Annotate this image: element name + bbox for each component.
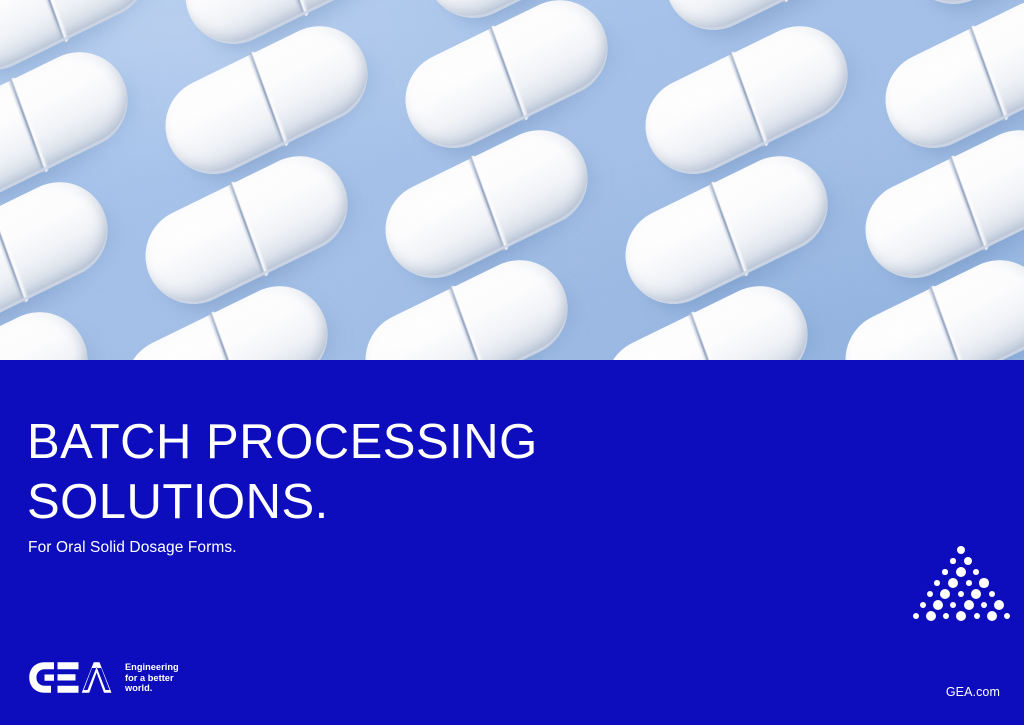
triangle-dot [920, 602, 926, 608]
blue-content-panel: BATCH PROCESSING SOLUTIONS. For Oral Sol… [0, 360, 1024, 725]
hero-photo-grain [0, 0, 1024, 360]
triangle-dot [940, 589, 950, 599]
hero-photo [0, 0, 1024, 360]
gea-logo-tagline: Engineering for a better world. [125, 661, 179, 694]
triangle-dot [956, 611, 967, 622]
triangle-dot [927, 591, 933, 597]
gea-logo-icon [28, 661, 112, 694]
page-title: BATCH PROCESSING SOLUTIONS. [27, 412, 767, 532]
page-subtitle: For Oral Solid Dosage Forms. [28, 539, 237, 557]
triangle-dot [981, 602, 987, 608]
triangle-dot [950, 558, 955, 563]
triangle-dot [994, 600, 1004, 610]
triangle-dot [956, 567, 966, 577]
triangle-dot [950, 602, 956, 608]
gea-logo-lockup: Engineering for a better world. [28, 661, 179, 694]
triangle-dot [964, 557, 973, 566]
triangle-dot [974, 613, 980, 619]
gea-dot-triangle-icon [916, 546, 1006, 616]
triangle-dot [913, 613, 919, 619]
triangle-dot [989, 591, 995, 597]
triangle-dot [973, 569, 979, 575]
brochure-cover-page: BATCH PROCESSING SOLUTIONS. For Oral Sol… [0, 0, 1024, 725]
triangle-dot [926, 611, 936, 621]
triangle-dot [942, 569, 947, 574]
triangle-dot [958, 591, 964, 597]
triangle-dot [964, 600, 974, 610]
triangle-dot [966, 580, 972, 586]
triangle-dot [934, 580, 940, 586]
triangle-dot [948, 578, 958, 588]
triangle-dot [1004, 613, 1010, 619]
site-url-label[interactable]: GEA.com [946, 685, 1000, 699]
triangle-dot [933, 600, 943, 610]
triangle-dot [979, 578, 988, 587]
triangle-dot [971, 589, 981, 599]
triangle-dot [943, 613, 949, 619]
triangle-dot [957, 546, 965, 554]
triangle-dot [987, 611, 997, 621]
